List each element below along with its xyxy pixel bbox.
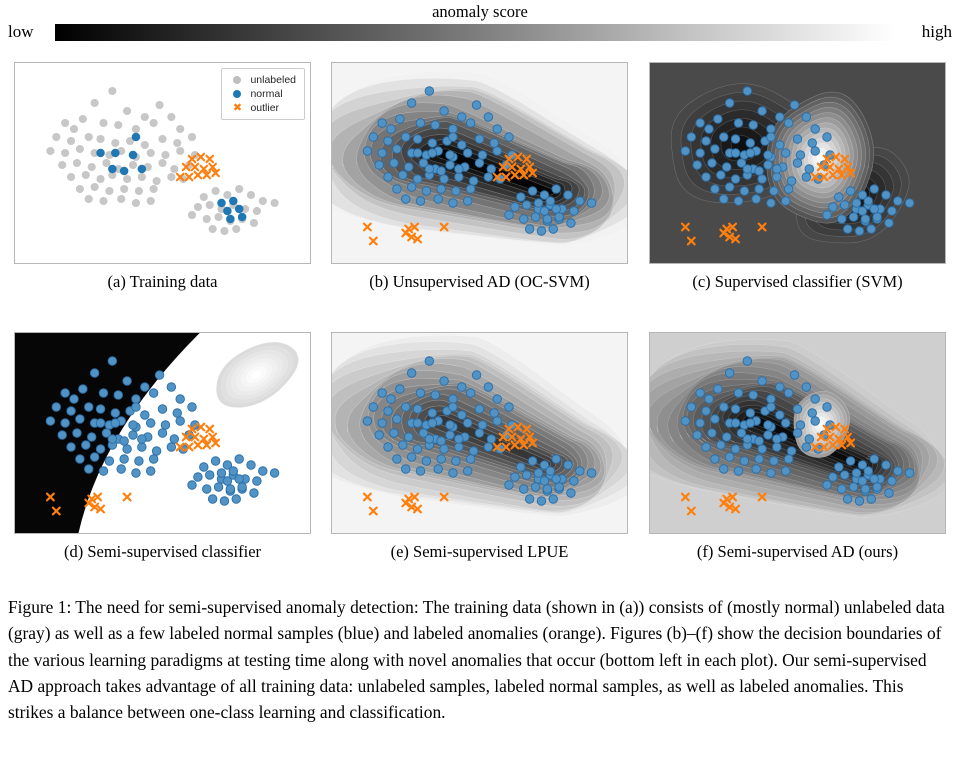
data-point <box>422 187 431 196</box>
data-point <box>437 455 446 464</box>
data-point <box>194 203 202 211</box>
data-point <box>123 175 131 183</box>
data-point <box>416 389 425 398</box>
data-point <box>90 369 99 378</box>
data-point <box>681 147 690 156</box>
data-point <box>546 467 555 476</box>
data-point <box>749 391 758 400</box>
data-point <box>702 173 711 182</box>
data-point <box>493 417 502 426</box>
data-point <box>173 409 182 418</box>
colorbar-title: anomaly score <box>0 2 960 22</box>
data-point <box>79 385 88 394</box>
data-point <box>220 497 229 506</box>
data-point <box>867 495 876 504</box>
data-point <box>722 433 731 442</box>
data-point <box>76 145 84 153</box>
data-point <box>702 443 711 452</box>
data-point <box>120 185 128 193</box>
data-point <box>719 195 728 204</box>
data-point <box>776 383 785 392</box>
data-point <box>407 99 416 108</box>
data-point <box>46 147 54 155</box>
data-point <box>490 139 499 148</box>
data-point <box>846 187 855 196</box>
data-point <box>223 191 231 199</box>
data-point <box>793 429 802 438</box>
data-point <box>384 173 393 182</box>
data-point <box>85 195 93 203</box>
data-point <box>708 429 717 438</box>
data-point <box>271 199 279 207</box>
data-point <box>446 151 455 160</box>
data-point <box>46 417 55 426</box>
data-point <box>91 99 99 107</box>
data-point <box>823 481 832 490</box>
data-point <box>537 227 546 236</box>
data-point <box>731 135 740 144</box>
data-point <box>873 483 882 492</box>
data-point <box>793 135 802 144</box>
legend-item-unlabeled: unlabeled <box>228 73 296 87</box>
data-point <box>61 149 69 157</box>
data-point <box>758 377 767 386</box>
data-point <box>540 207 549 216</box>
data-point <box>135 457 144 466</box>
data-point <box>446 421 455 430</box>
data-point <box>67 137 75 145</box>
data-point <box>96 135 104 143</box>
data-point <box>167 383 176 392</box>
data-point <box>463 419 472 428</box>
data-point <box>466 185 475 194</box>
data-point <box>802 113 811 122</box>
data-point <box>96 405 105 414</box>
data-point <box>158 429 167 438</box>
data-point <box>138 165 147 174</box>
data-point <box>85 133 93 141</box>
data-point <box>270 469 279 478</box>
data-point <box>740 187 749 196</box>
data-point <box>123 377 132 386</box>
data-point <box>708 159 717 168</box>
data-point <box>378 389 387 398</box>
data-point <box>226 215 235 224</box>
data-point <box>787 447 796 456</box>
data-point <box>517 463 526 472</box>
data-point <box>259 467 268 476</box>
data-point <box>76 415 85 424</box>
data-point <box>458 141 467 150</box>
data-point <box>511 473 520 482</box>
data-point <box>223 477 232 486</box>
data-point <box>858 477 867 486</box>
data-point <box>534 199 543 208</box>
data-point <box>484 113 493 122</box>
colorbar-block: anomaly score low high <box>0 0 960 52</box>
data-point <box>475 405 484 414</box>
data-point <box>425 165 434 174</box>
data-point <box>129 161 137 169</box>
data-point <box>212 187 220 195</box>
data-point <box>129 151 138 160</box>
data-point <box>132 469 141 478</box>
data-point <box>864 467 873 476</box>
data-point <box>214 213 222 221</box>
data-point <box>150 185 158 193</box>
data-point <box>696 149 705 158</box>
data-point <box>96 175 104 183</box>
data-point <box>731 405 740 414</box>
data-point <box>437 437 446 446</box>
data-point <box>770 457 779 466</box>
data-point <box>455 443 464 452</box>
data-point <box>138 435 147 444</box>
figure-caption: Figure 1: The need for semi-supervised a… <box>8 594 952 725</box>
data-point <box>440 445 449 454</box>
data-point <box>158 135 166 143</box>
data-point <box>235 475 244 484</box>
data-point <box>176 395 185 404</box>
panel-c-caption: (c) Supervised classifier (SVM) <box>649 272 946 292</box>
data-point <box>217 469 226 478</box>
data-point <box>440 107 449 116</box>
data-point <box>755 167 764 176</box>
data-point <box>705 125 714 134</box>
data-point <box>749 121 758 130</box>
data-point <box>437 167 446 176</box>
data-point <box>696 389 705 398</box>
data-point <box>731 175 740 184</box>
data-point <box>82 171 90 179</box>
data-point <box>767 395 776 404</box>
data-point <box>808 139 817 148</box>
data-point <box>416 197 425 206</box>
data-point <box>123 107 131 115</box>
data-point <box>147 149 155 157</box>
panel-c-plot <box>650 63 945 263</box>
data-point <box>123 445 132 454</box>
data-point <box>719 403 728 412</box>
data-point <box>407 369 416 378</box>
data-point <box>200 463 209 472</box>
data-point <box>247 191 255 199</box>
data-point <box>873 213 882 222</box>
data-point <box>167 113 175 121</box>
data-point <box>466 389 475 398</box>
data-point <box>570 477 579 486</box>
data-point <box>84 465 93 474</box>
outlier-marker-icon: ✖ <box>228 103 246 114</box>
data-point <box>852 199 861 208</box>
data-point <box>428 419 437 428</box>
data-point <box>552 455 561 464</box>
data-point <box>894 197 903 206</box>
data-point <box>413 135 422 144</box>
data-point <box>58 161 66 169</box>
data-point <box>111 139 119 147</box>
data-point <box>188 481 197 490</box>
data-point <box>843 225 852 234</box>
data-point <box>811 125 820 134</box>
data-point <box>205 471 214 480</box>
data-point <box>840 201 849 210</box>
data-point <box>564 191 573 200</box>
data-point <box>552 185 561 194</box>
data-point <box>152 447 161 456</box>
data-point <box>422 457 431 466</box>
data-point <box>522 201 531 210</box>
data-point <box>446 431 455 440</box>
data-point <box>375 431 384 440</box>
data-point <box>475 159 484 168</box>
data-point <box>238 213 247 222</box>
data-point <box>755 185 764 194</box>
data-point <box>705 395 714 404</box>
data-point <box>132 199 140 207</box>
data-point <box>99 119 107 127</box>
data-point <box>714 385 723 394</box>
data-point <box>158 405 167 414</box>
data-point <box>855 497 864 506</box>
data-point <box>82 441 91 450</box>
data-point <box>734 197 743 206</box>
data-point <box>250 219 258 227</box>
data-point <box>549 495 558 504</box>
data-point <box>73 429 82 438</box>
data-point <box>746 409 755 418</box>
data-point <box>882 191 891 200</box>
data-point <box>781 419 790 428</box>
data-point <box>413 405 422 414</box>
data-point <box>105 457 114 466</box>
data-point <box>413 419 422 428</box>
data-point <box>484 173 493 182</box>
data-point <box>849 483 858 492</box>
data-point <box>805 165 814 174</box>
data-point <box>764 421 773 430</box>
data-point <box>743 435 752 444</box>
data-point <box>99 467 108 476</box>
data-point <box>888 207 897 216</box>
data-point <box>155 371 164 380</box>
data-point <box>702 137 711 146</box>
data-point <box>88 163 96 171</box>
data-point <box>111 409 120 418</box>
data-point <box>823 211 832 220</box>
data-point <box>155 101 163 109</box>
data-point <box>466 119 475 128</box>
data-point <box>864 197 873 206</box>
data-point <box>519 215 528 224</box>
data-point <box>390 159 399 168</box>
data-point <box>764 161 773 170</box>
data-point <box>458 113 467 122</box>
data-point <box>469 447 478 456</box>
data-point <box>194 473 203 482</box>
data-point <box>401 195 410 204</box>
data-point <box>882 461 891 470</box>
data-point <box>758 107 767 116</box>
data-point <box>776 141 785 150</box>
colorbar-high-label: high <box>922 22 952 42</box>
data-point <box>147 197 155 205</box>
data-point <box>773 173 782 182</box>
data-point <box>734 467 743 476</box>
data-point <box>469 177 478 186</box>
data-point <box>188 211 196 219</box>
data-point <box>449 403 458 412</box>
data-point <box>802 383 811 392</box>
colorbar-low-label: low <box>8 22 34 42</box>
data-point <box>413 149 422 158</box>
data-point <box>135 187 143 195</box>
data-point <box>96 419 105 428</box>
data-point <box>540 477 549 486</box>
data-point <box>849 213 858 222</box>
data-point <box>905 199 914 208</box>
data-point <box>693 431 702 440</box>
data-point <box>141 141 149 149</box>
data-point <box>702 407 711 416</box>
panel-supervised-classifier <box>649 62 946 264</box>
data-point <box>472 371 481 380</box>
data-point <box>138 443 147 452</box>
data-point <box>805 435 814 444</box>
data-point <box>396 115 405 124</box>
data-point <box>455 173 464 182</box>
data-point <box>146 467 155 476</box>
data-point <box>746 139 755 148</box>
panel-unsupervised-ad <box>331 62 628 264</box>
data-point <box>711 145 720 154</box>
data-point <box>478 421 487 430</box>
data-point <box>150 119 158 127</box>
data-point <box>232 495 241 504</box>
data-point <box>203 215 211 223</box>
data-point <box>511 203 520 212</box>
data-point <box>96 149 105 158</box>
data-point <box>870 475 879 484</box>
data-point <box>437 185 446 194</box>
data-point <box>141 383 150 392</box>
data-point <box>687 133 696 142</box>
data-point <box>870 455 879 464</box>
data-point <box>861 215 870 224</box>
data-point <box>452 187 461 196</box>
panel-d-caption: (d) Semi-supervised classifier <box>14 542 311 562</box>
data-point <box>711 455 720 464</box>
data-point <box>796 151 805 160</box>
data-point <box>475 135 484 144</box>
data-point <box>70 125 78 133</box>
data-point <box>446 161 455 170</box>
data-point <box>493 395 502 404</box>
data-point <box>363 417 372 426</box>
data-point <box>58 431 67 440</box>
panel-semisupervised-lpue <box>331 332 628 534</box>
data-point <box>731 445 740 454</box>
data-point <box>393 455 402 464</box>
data-point <box>823 133 832 142</box>
data-point <box>114 391 123 400</box>
data-point <box>493 147 502 156</box>
data-point <box>781 467 790 476</box>
data-point <box>223 207 232 216</box>
data-point <box>528 187 537 196</box>
data-point <box>425 357 434 366</box>
data-point <box>711 415 720 424</box>
data-point <box>743 165 752 174</box>
data-point <box>770 187 779 196</box>
data-point <box>132 395 141 404</box>
data-point <box>208 495 217 504</box>
data-point <box>167 443 176 452</box>
data-point <box>170 435 179 444</box>
data-point <box>458 383 467 392</box>
data-point <box>505 133 514 142</box>
data-point <box>440 175 449 184</box>
data-point <box>52 133 60 141</box>
data-point <box>232 225 240 233</box>
data-point <box>528 457 537 466</box>
data-point <box>407 183 416 192</box>
data-point <box>555 213 564 222</box>
data-point <box>808 409 817 418</box>
data-point <box>99 197 107 205</box>
data-point <box>413 445 422 454</box>
data-point <box>431 391 440 400</box>
data-point <box>70 395 79 404</box>
data-point <box>108 87 116 95</box>
colorbar-gradient <box>55 24 896 41</box>
data-point <box>407 453 416 462</box>
data-point <box>149 389 158 398</box>
data-point <box>802 173 811 182</box>
data-point <box>531 483 540 492</box>
data-point <box>811 395 820 404</box>
data-point <box>120 437 129 446</box>
panel-e-plot <box>332 333 627 533</box>
data-point <box>546 197 555 206</box>
data-point <box>369 133 378 142</box>
data-point <box>505 403 514 412</box>
panel-b-plot <box>332 63 627 263</box>
panel-a-caption: (a) Training data <box>14 272 311 292</box>
data-point <box>99 389 108 398</box>
data-point <box>428 409 437 418</box>
data-point <box>552 205 561 214</box>
data-point <box>111 149 120 158</box>
data-point <box>725 99 734 108</box>
data-point <box>905 469 914 478</box>
data-point <box>67 443 76 452</box>
data-point <box>176 125 184 133</box>
data-point <box>787 177 796 186</box>
data-point <box>111 419 120 428</box>
data-point <box>399 441 408 450</box>
data-point <box>767 403 776 412</box>
data-point <box>888 477 897 486</box>
data-point <box>434 195 443 204</box>
data-point <box>449 395 458 404</box>
panel-d-plot <box>15 333 310 533</box>
data-point <box>837 485 846 494</box>
data-point <box>229 197 238 206</box>
data-point <box>138 173 146 181</box>
data-point <box>743 357 752 366</box>
data-point <box>188 403 197 412</box>
